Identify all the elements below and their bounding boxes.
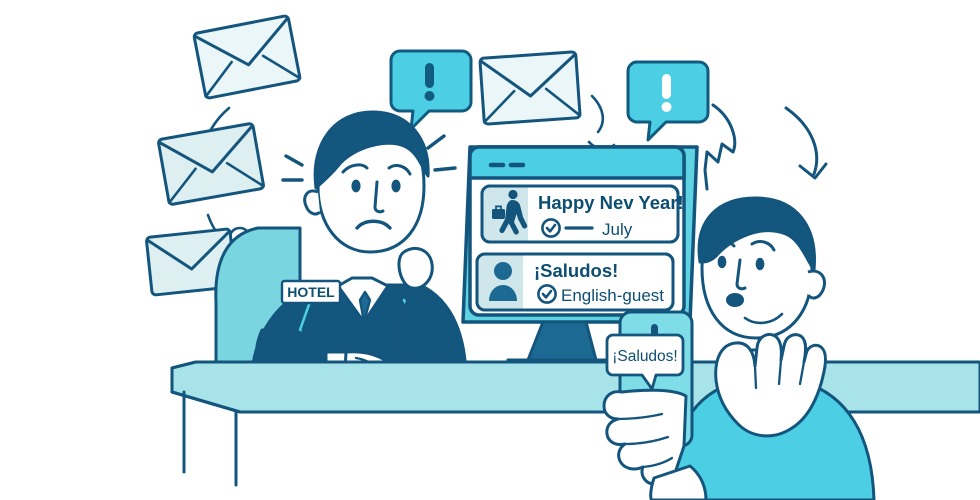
guest-eye-left	[718, 256, 727, 268]
message-row-1[interactable]: Happy Nev Year! July	[482, 186, 684, 242]
guest-eye-right	[756, 258, 765, 270]
check-circle-icon-row-1	[542, 219, 559, 236]
message-row-2-headline: ¡Saludos!	[534, 260, 618, 281]
staff-eye-left	[351, 180, 360, 193]
window-title-bar	[470, 147, 684, 178]
staff-name-badge: HOTEL	[282, 281, 340, 303]
guest-mouth	[726, 293, 744, 307]
staff-name-badge-label: HOTEL	[287, 284, 335, 300]
check-circle-icon-row-2	[538, 285, 555, 302]
envelope-top-center	[480, 52, 580, 125]
message-row-2-status: English-guest	[561, 286, 664, 305]
staff-eye-right	[391, 180, 400, 193]
phone-message-text: ¡Saludos!	[612, 348, 677, 365]
illustration-scene: Happy Nev Year! July ¡Saludos!	[0, 0, 980, 500]
message-row-1-headline: Happy Nev Year!	[538, 192, 684, 213]
message-row-2[interactable]: ¡Saludos! English-guest	[477, 254, 673, 310]
exclamation-mark-right	[662, 74, 672, 112]
message-row-1-status: July	[602, 220, 633, 239]
exclamation-mark-left	[425, 63, 435, 101]
